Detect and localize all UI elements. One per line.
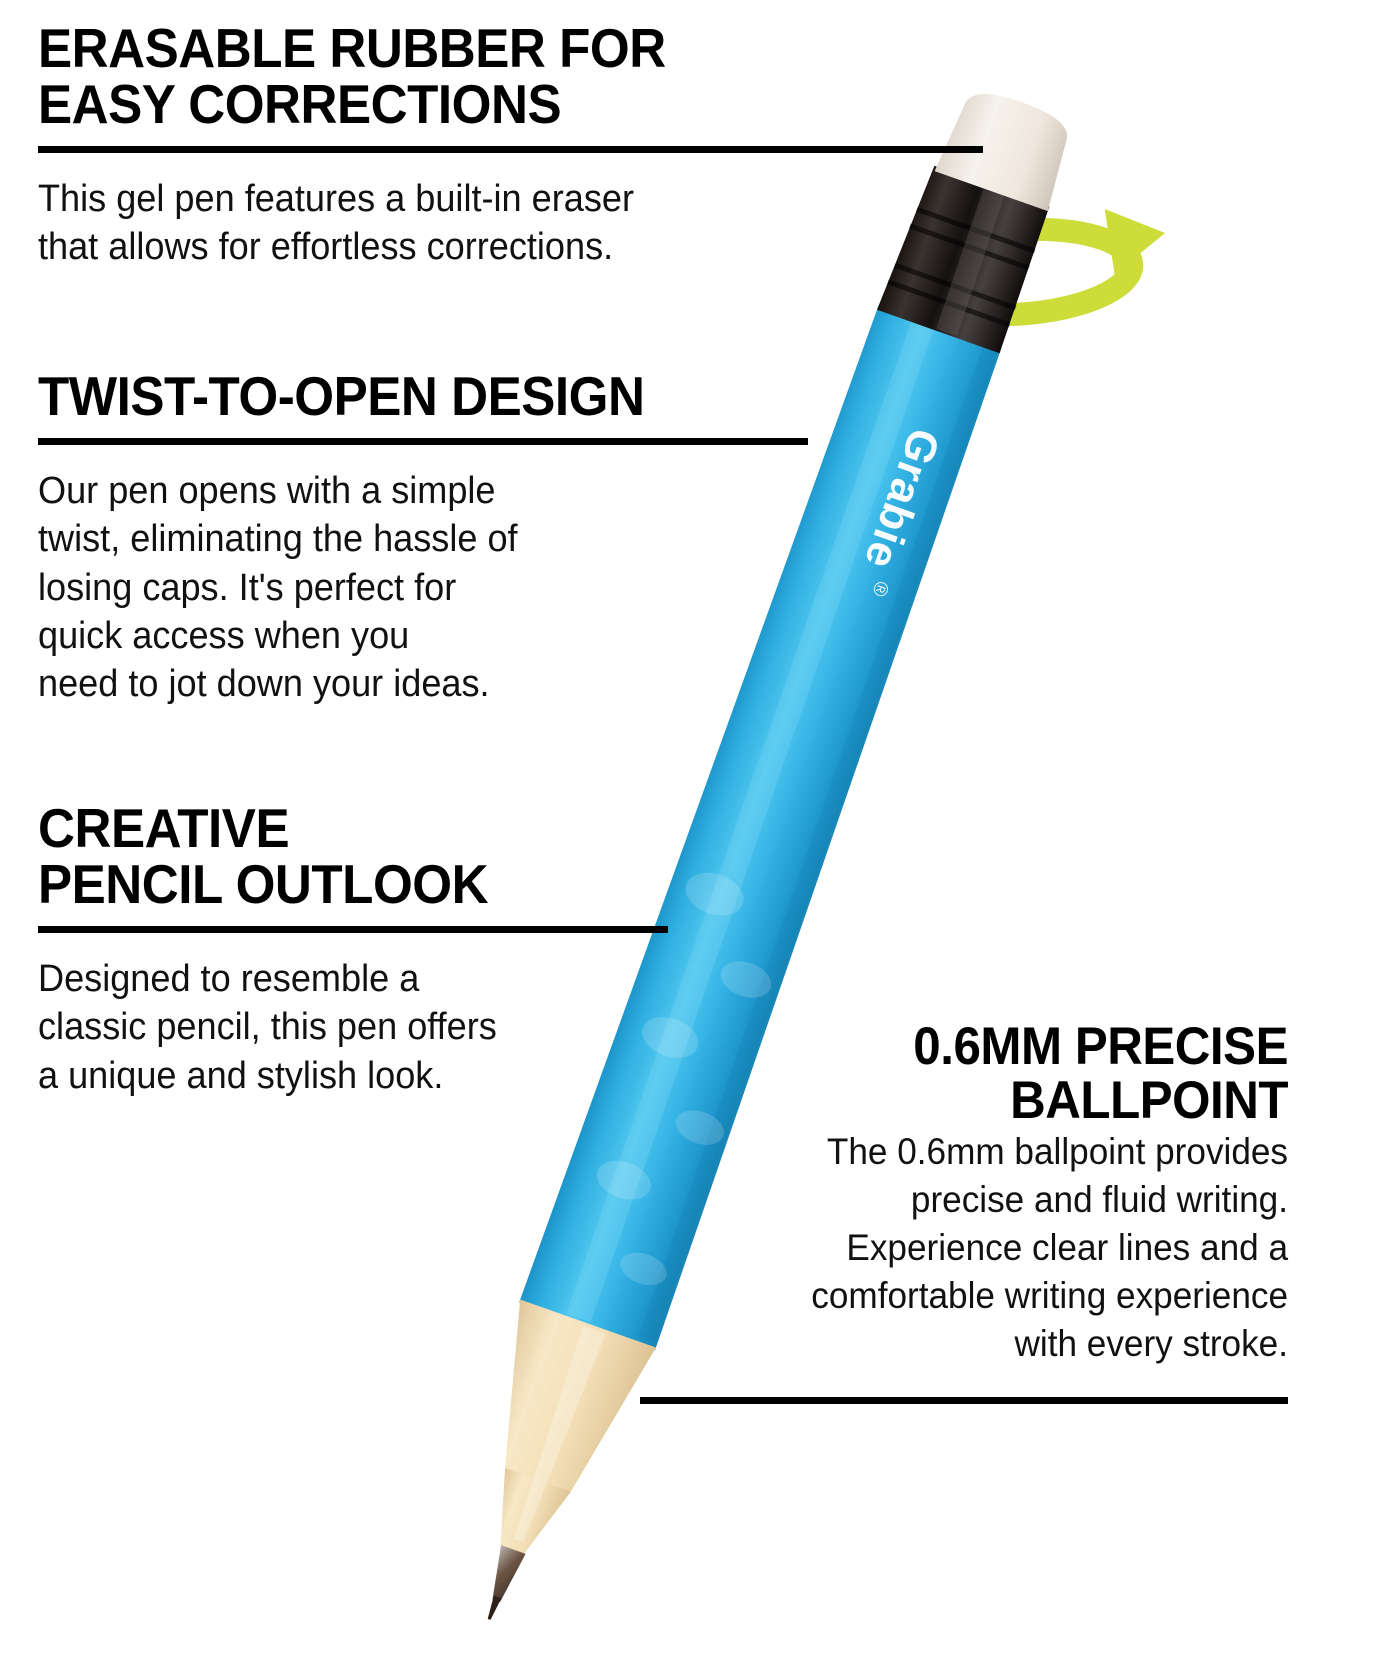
- feature-precise-ballpoint: 0.6MM PRECISE BALLPOINT The 0.6mm ballpo…: [640, 1020, 1288, 1404]
- brand-logo: Grabie ®: [845, 422, 949, 601]
- pen-nib: [483, 1545, 526, 1605]
- feature-body: Designed to resemble a classic pencil, t…: [38, 955, 637, 1100]
- feature-body: The 0.6mm ballpoint provides precise and…: [672, 1128, 1288, 1368]
- feature-creative-pencil-outlook: CREATIVE PENCIL OUTLOOK Designed to rese…: [38, 800, 668, 1100]
- divider-rule: [38, 926, 668, 933]
- feature-heading: CREATIVE PENCIL OUTLOOK: [38, 800, 624, 912]
- pen-tip-cone: [465, 1299, 655, 1502]
- feature-twist-to-open: TWIST-TO-OPEN DESIGN Our pen opens with …: [38, 368, 808, 708]
- feature-erasable-rubber: ERASABLE RUBBER FOR EASY CORRECTIONS Thi…: [38, 20, 983, 272]
- divider-rule: [640, 1397, 1288, 1404]
- feature-body: Our pen opens with a simple twist, elimi…: [38, 467, 770, 708]
- trademark-symbol: ®: [867, 578, 893, 599]
- feature-heading: ERASABLE RUBBER FOR EASY CORRECTIONS: [38, 20, 917, 132]
- feature-body: This gel pen features a built-in eraser …: [38, 175, 936, 272]
- brand-name: Grabie: [854, 422, 949, 575]
- divider-rule: [38, 438, 808, 445]
- divider-rule: [38, 146, 983, 153]
- feature-heading: TWIST-TO-OPEN DESIGN: [38, 368, 754, 424]
- product-infographic: Grabie ® ERASABLE RUBBER FOR EASY CORREC…: [0, 0, 1400, 1680]
- feature-heading: 0.6MM PRECISE BALLPOINT: [685, 1020, 1288, 1128]
